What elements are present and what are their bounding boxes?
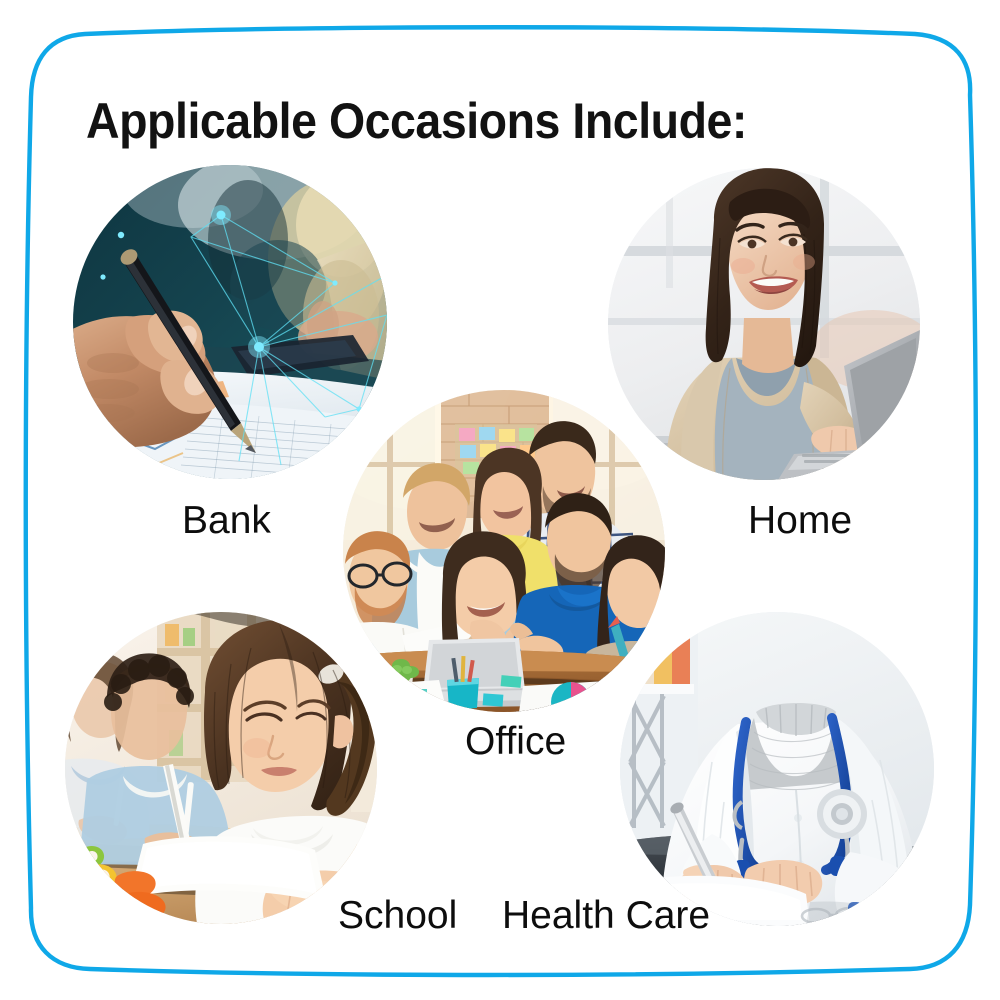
occasion-photo-bank [73,165,387,479]
occasion-label-office: Office [465,720,566,764]
occasions-infographic: Applicable Occasions Include: [0,0,1000,1000]
occasion-label-health-care: Health Care [502,894,710,938]
occasion-photo-health-care [620,612,934,926]
occasion-label-home: Home [748,499,852,543]
occasion-label-school: School [338,894,457,938]
occasion-photo-office [343,390,665,712]
page-title: Applicable Occasions Include: [86,92,747,150]
occasion-photo-home [608,168,920,480]
occasion-photo-school [65,612,377,924]
occasion-label-bank: Bank [182,499,271,543]
